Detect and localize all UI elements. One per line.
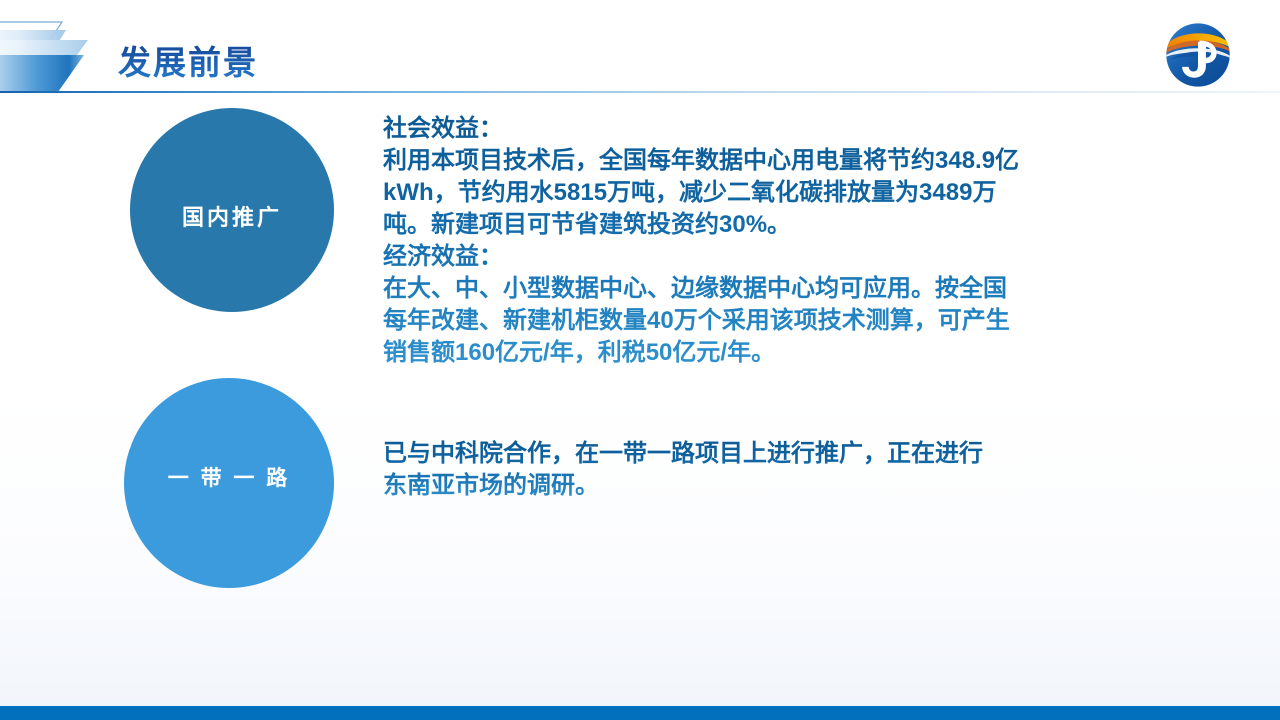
copy-line: 东南亚市场的调研。 <box>383 470 1043 502</box>
copy-line: 社会效益： <box>383 113 1063 145</box>
page-title: 发展前景 <box>118 36 258 84</box>
copy-line: 已与中科院合作，在一带一路项目上进行推广，正在进行 <box>383 438 1043 470</box>
copy-line: 吨。新建项目可节省建筑投资约30%。 <box>383 209 1063 241</box>
header-divider-rule <box>0 91 1280 93</box>
circle-label-domestic-promotion: 国内推广 <box>182 200 282 232</box>
slide-canvas: 发展前景 <box>0 0 1280 720</box>
copy-line: 在大、中、小型数据中心、边缘数据中心均可应用。按全国 <box>383 273 1063 305</box>
copy-line: kWh，节约用水5815万吨，减少二氧化碳排放量为3489万 <box>383 177 1063 209</box>
copy-line: 销售额160亿元/年，利税50亿元/年。 <box>383 337 1063 369</box>
body-text-belt-and-road: 已与中科院合作，在一带一路项目上进行推广，正在进行 东南亚市场的调研。 <box>383 438 1043 502</box>
copy-line: 经济效益： <box>383 241 1063 273</box>
circle-label-belt-and-road: 一 带 一 路 <box>168 462 291 492</box>
footer-accent-bar <box>0 706 1280 720</box>
slide-header: 发展前景 <box>0 0 1280 94</box>
body-text-domestic-promotion: 社会效益： 利用本项目技术后，全国每年数据中心用电量将节约348.9亿 kWh，… <box>383 113 1063 369</box>
copy-line: 每年改建、新建机柜数量40万个采用该项技术测算，可产生 <box>383 305 1063 337</box>
copy-line: 利用本项目技术后，全国每年数据中心用电量将节约348.9亿 <box>383 145 1063 177</box>
circle-badge-belt-and-road[interactable]: 一 带 一 路 <box>124 378 334 588</box>
company-logo <box>1165 22 1231 88</box>
circle-badge-domestic-promotion[interactable]: 国内推广 <box>130 108 334 312</box>
